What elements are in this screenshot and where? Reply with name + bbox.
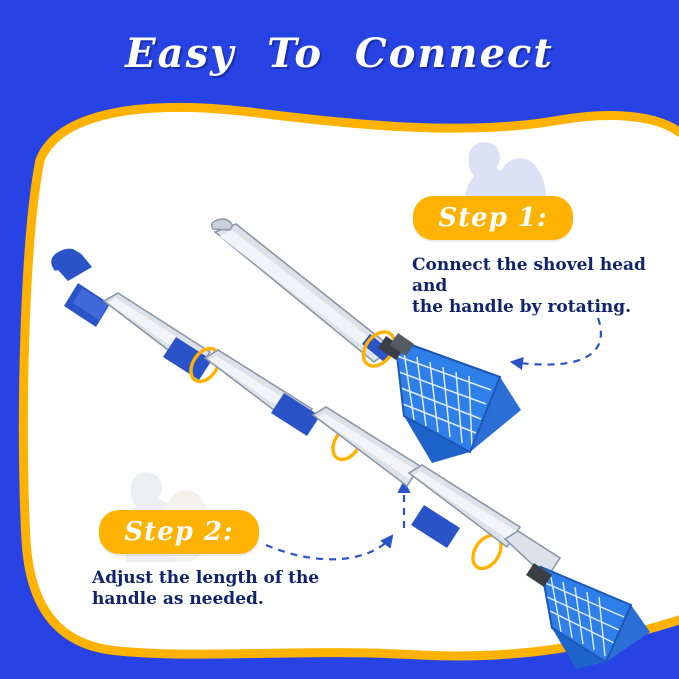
shovel-basket-head-2 bbox=[526, 563, 650, 669]
step-1-badge: Step 1: bbox=[413, 196, 573, 240]
step-2-caption: Adjust the length of the handle as neede… bbox=[92, 568, 342, 610]
infographic-canvas: Easy To Connect Step 1: Connect the shov… bbox=[0, 0, 679, 679]
step-2-badge: Step 2: bbox=[99, 510, 259, 554]
step-1-caption: Connect the shovel head and the handle b… bbox=[412, 255, 662, 318]
page-title: Easy To Connect bbox=[0, 30, 679, 77]
shovel-basket-head bbox=[378, 333, 521, 463]
shovel-handle-pole bbox=[212, 219, 401, 372]
